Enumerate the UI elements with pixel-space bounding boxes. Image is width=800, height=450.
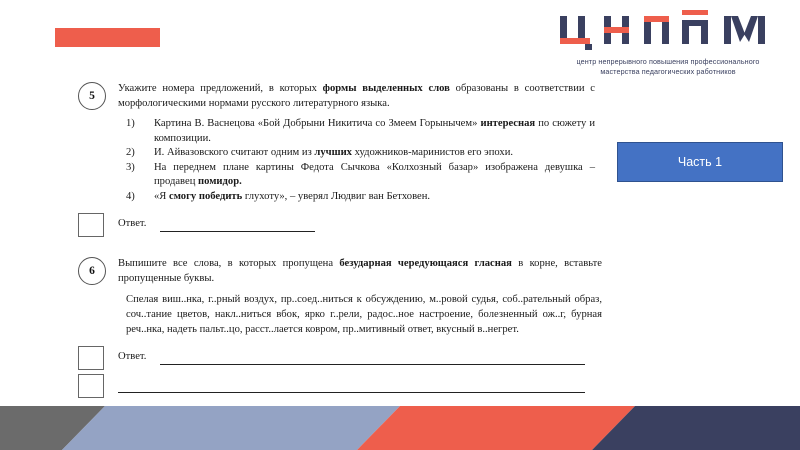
option-text: И. Айвазовского считают одним из лучших … — [154, 147, 513, 158]
question-options-5: 1) Картина В. Васнецова «Бой Добрыни Ник… — [118, 117, 595, 204]
option-marker: 3) — [126, 161, 135, 176]
answer-write-line[interactable] — [118, 392, 585, 393]
option-marker: 4) — [126, 190, 135, 205]
question-wordlist-6: Спелая виш..нка, г..рный воздух, пр..сое… — [118, 293, 602, 337]
slide-canvas: центр непрерывного повышения профессиона… — [0, 0, 800, 450]
band-segment-bluegray — [62, 406, 400, 450]
option-item: 4) «Я смогу победить глухоту», – уверял … — [118, 190, 595, 205]
answer-row-6-line2 — [0, 374, 800, 400]
organization-logo: центр непрерывного повышения профессиона… — [554, 8, 782, 77]
answer-row-6-line1: Ответ. — [0, 346, 800, 372]
answer-checkbox[interactable] — [78, 213, 104, 237]
answer-row-5: Ответ. — [0, 213, 800, 239]
question-number-6: 6 — [78, 257, 106, 285]
footer-decoration-band — [0, 406, 800, 450]
cnppm-wordmark-icon — [554, 8, 784, 54]
option-text: Картина В. Васнецова «Бой Добрыни Никити… — [154, 118, 595, 144]
logo-subtitle-line2: мастерства педагогических работников — [554, 67, 782, 77]
question-number-5: 5 — [78, 82, 106, 110]
option-item: 3) На переднем плане картины Федота Сычк… — [118, 161, 595, 190]
option-item: 1) Картина В. Васнецова «Бой Добрыни Ник… — [118, 117, 595, 146]
top-accent-bar — [55, 28, 160, 47]
answer-write-line[interactable] — [160, 364, 585, 365]
footer-band-shapes — [0, 406, 800, 450]
option-text: «Я смогу победить глухоту», – уверял Люд… — [154, 191, 430, 202]
question-block-5: 5 Укажите номера предложений, в которых … — [0, 82, 800, 204]
logo-subtitle-line1: центр непрерывного повышения профессиона… — [554, 57, 782, 67]
answer-checkbox[interactable] — [78, 346, 104, 370]
option-marker: 2) — [126, 146, 135, 161]
option-text: На переднем плане картины Федота Сычкова… — [154, 162, 595, 188]
worksheet-body: 5 Укажите номера предложений, в которых … — [0, 82, 800, 400]
question-prompt-6: Выпишите все слова, в которых пропущена … — [118, 257, 602, 286]
question-block-6: 6 Выпишите все слова, в которых пропущен… — [0, 257, 800, 337]
logo-subtitle: центр непрерывного повышения профессиона… — [554, 57, 782, 77]
band-segment-red — [357, 406, 635, 450]
option-marker: 1) — [126, 117, 135, 132]
question-prompt-5: Укажите номера предложений, в которых фо… — [118, 82, 595, 111]
answer-label: Ответ. — [118, 218, 146, 229]
answer-checkbox[interactable] — [78, 374, 104, 398]
option-item: 2) И. Айвазовского считают одним из лучш… — [118, 146, 595, 161]
answer-label: Ответ. — [118, 351, 146, 362]
answer-write-line[interactable] — [160, 231, 315, 232]
